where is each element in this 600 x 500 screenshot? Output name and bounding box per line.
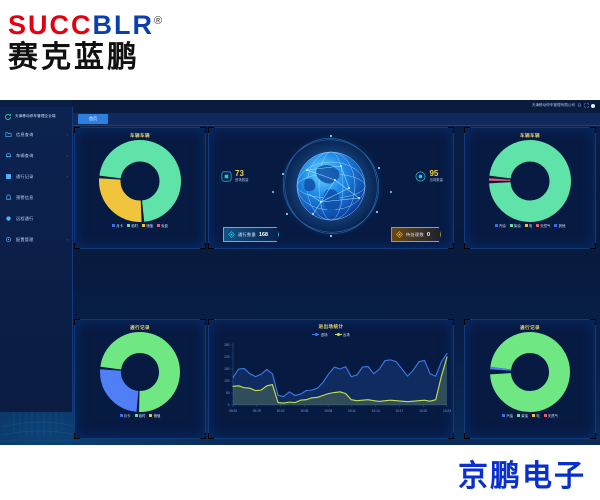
fullscreen-icon[interactable] xyxy=(584,103,589,108)
tab-home-label: 首页 xyxy=(89,116,97,122)
legend-swatch xyxy=(120,414,123,417)
footer-watermark-bar: 京鹏电子 xyxy=(0,445,600,500)
legend-item: 汽油 xyxy=(502,413,513,418)
legend-swatch xyxy=(536,224,539,227)
legend-label: 临时 xyxy=(139,413,146,418)
legend-item: 其他 xyxy=(554,223,565,228)
card-title: 车辆车辆 xyxy=(465,128,595,139)
svg-text:10:14: 10:14 xyxy=(372,409,380,413)
svg-text:10:17: 10:17 xyxy=(395,409,403,413)
sidebar-item-label: 预警信息 xyxy=(16,195,64,201)
svg-text:10:05: 10:05 xyxy=(300,409,308,413)
sidebar-item-xinxichaxun[interactable]: 信息查询 › xyxy=(0,124,72,145)
pill-traffic-count[interactable]: 通行数量 168 xyxy=(223,227,279,242)
svg-text:50: 50 xyxy=(226,391,230,395)
kpi-exit: 95 出场数量 xyxy=(415,170,443,183)
current-user-label: 天津移动停车管理有限公司 xyxy=(532,103,575,108)
card-center-globe: 73 进场数量 95 出场数量 通行数量 168 xyxy=(208,127,454,249)
legend-swatch xyxy=(502,414,505,417)
legend-label: 汽油 xyxy=(499,223,506,228)
sidebar-item-cheliangchaxun[interactable]: 车辆查询 › xyxy=(0,145,72,166)
svg-text:100: 100 xyxy=(224,379,230,383)
tab-home[interactable]: 首页 xyxy=(78,114,108,124)
legend-label: 汽油 xyxy=(506,413,513,418)
legend-label: 电 xyxy=(536,413,539,418)
application-screenshot: 天津移动停车管理有限公司 首页 天津移动停车管理企业端 信息查询 › 车辆查询 … xyxy=(0,100,600,445)
legend-item: 免费 xyxy=(157,223,168,228)
pill-pending-count[interactable]: 待处理数 0 xyxy=(391,227,441,242)
dot-icon xyxy=(5,215,12,222)
topbar-right-cluster[interactable]: 天津移动停车管理有限公司 xyxy=(532,103,595,108)
legend-item: 柴油 xyxy=(510,223,521,228)
legend-swatch xyxy=(510,224,513,227)
kpi-exit-value: 95 xyxy=(429,170,443,178)
legend-label: 储值 xyxy=(154,413,161,418)
logo-chinese: 赛克蓝鹏 xyxy=(8,41,164,75)
sidebar: 天津移动停车管理企业端 信息查询 › 车辆查询 › 通行记录 › 预警信息 远程… xyxy=(0,107,73,412)
card-title: 进出场统计 xyxy=(209,320,453,330)
legend-top-left: 月卡 临时 储值 免费 xyxy=(75,223,205,231)
chevron-right-icon: › xyxy=(67,237,68,242)
legend-label: 临时 xyxy=(131,223,138,228)
svg-text:09:26: 09:26 xyxy=(229,409,237,413)
legend-item: 汽油 xyxy=(495,223,506,228)
dashboard-grid: 车辆车辆 月卡 临时 储值 免费 xyxy=(74,127,596,439)
chevron-right-icon: › xyxy=(67,174,68,179)
sidebar-item-label: 车辆查询 xyxy=(16,153,63,159)
svg-text:10:08: 10:08 xyxy=(324,409,332,413)
svg-text:10:11: 10:11 xyxy=(348,409,356,413)
kpi-exit-label: 出场数量 xyxy=(429,178,443,183)
svg-text:10:20: 10:20 xyxy=(419,409,427,413)
legend-swatch xyxy=(532,414,535,417)
legend-label: 月卡 xyxy=(116,223,123,228)
legend-item: 柴油 xyxy=(517,413,528,418)
chevron-right-icon: › xyxy=(67,153,68,158)
bell-icon[interactable] xyxy=(577,103,582,108)
legend-swatch xyxy=(112,224,115,227)
donut-chart-top-left xyxy=(75,139,205,223)
legend-item: 电 xyxy=(532,413,540,418)
sidebar-item-label: 配置管理 xyxy=(16,237,63,243)
car-icon xyxy=(5,152,12,159)
legend-item: 天然气 xyxy=(544,413,558,418)
svg-text:150: 150 xyxy=(224,367,230,371)
legend-swatch xyxy=(517,414,520,417)
kpi-entry-value: 73 xyxy=(235,170,249,178)
logo-latin: SUCCBLR® xyxy=(8,6,164,40)
legend-label: 出场 xyxy=(343,332,350,337)
list-icon xyxy=(5,173,12,180)
card-title: 通行记录 xyxy=(75,320,205,331)
legend-line-marker xyxy=(335,334,342,335)
donut-svg xyxy=(489,140,571,222)
tab-bar: 首页 xyxy=(72,113,600,126)
sidebar-item-yujingxinxi[interactable]: 预警信息 xyxy=(0,187,72,208)
legend-label: 天然气 xyxy=(548,413,558,418)
line-chart-svg: 05010015020025009:2609:2910:0210:0510:08… xyxy=(209,337,453,425)
chevron-right-icon: › xyxy=(67,132,68,137)
avatar-icon[interactable] xyxy=(591,104,595,108)
bell-icon xyxy=(5,194,12,201)
legend-item: 电 xyxy=(525,223,533,228)
svg-text:250: 250 xyxy=(224,343,230,347)
pill-traffic-label: 通行数量 xyxy=(238,232,256,238)
legend-label: 天然气 xyxy=(540,223,550,228)
legend-item: 进场 xyxy=(312,332,327,337)
legend-swatch xyxy=(554,224,557,227)
donut-svg xyxy=(100,332,180,412)
gear-icon xyxy=(5,236,12,243)
refresh-icon xyxy=(4,113,12,121)
legend-item: 储值 xyxy=(142,223,153,228)
sidebar-item-label: 通行记录 xyxy=(16,174,63,180)
card-title: 通行记录 xyxy=(465,320,595,331)
legend-line-marker xyxy=(312,334,319,335)
donut-chart-top-right xyxy=(465,139,595,223)
kpi-entry-label: 进场数量 xyxy=(235,178,249,183)
logo-succ: SUCC xyxy=(8,10,93,40)
exit-icon xyxy=(415,171,426,182)
legend-label: 电 xyxy=(529,223,532,228)
legend-label: 月卡 xyxy=(124,413,131,418)
donut-chart-bottom-right xyxy=(465,331,595,413)
svg-text:0: 0 xyxy=(228,403,230,407)
card-bottom-right: 通行记录 汽油 柴油 电 天然气 xyxy=(464,319,596,439)
legend-item: 月卡 xyxy=(120,413,131,418)
legend-item: 出场 xyxy=(335,332,350,337)
donut-svg xyxy=(99,140,181,222)
legend-label: 储值 xyxy=(146,223,153,228)
legend-swatch xyxy=(544,414,547,417)
org-name-label: 天津移动停车管理企业端 xyxy=(15,114,56,119)
diamond-icon xyxy=(396,231,403,238)
pill-pending-value: 0 xyxy=(427,232,430,238)
legend-label: 进场 xyxy=(321,332,328,337)
svg-text:200: 200 xyxy=(224,355,230,359)
sidebar-item-peizhiguanli[interactable]: 配置管理 › xyxy=(0,229,72,250)
legend-label: 免费 xyxy=(161,223,168,228)
sidebar-item-yuanchengtongxing[interactable]: 远程通行 xyxy=(0,208,72,229)
brand-header: SUCCBLR® 赛克蓝鹏 xyxy=(0,0,600,100)
kpi-entry: 73 进场数量 xyxy=(221,170,249,183)
legend-item: 临时 xyxy=(127,223,138,228)
legend-swatch xyxy=(149,414,152,417)
card-top-left: 车辆车辆 月卡 临时 储值 免费 xyxy=(74,127,206,249)
legend-item: 月卡 xyxy=(112,223,123,228)
legend-label: 其他 xyxy=(559,223,566,228)
footer-watermark: 京鹏电子 xyxy=(458,451,586,495)
sidebar-item-tongxingjilu[interactable]: 通行记录 › xyxy=(0,166,72,187)
pill-traffic-value: 168 xyxy=(259,232,268,238)
org-header[interactable]: 天津移动停车管理企业端 xyxy=(0,107,72,124)
registered-mark-icon: ® xyxy=(154,15,164,27)
donut-svg xyxy=(490,332,570,412)
svg-text:09:29: 09:29 xyxy=(253,409,261,413)
diamond-icon xyxy=(228,231,235,238)
card-bottom-left: 通行记录 月卡 临时 储值 xyxy=(74,319,206,439)
card-top-right: 车辆车辆 汽油 柴油 电 天然气 其他 xyxy=(464,127,596,249)
legend-swatch xyxy=(142,224,145,227)
legend-bottom-right: 汽油 柴油 电 天然气 xyxy=(465,413,595,421)
svg-text:10:02: 10:02 xyxy=(277,409,285,413)
legend-swatch xyxy=(127,224,130,227)
legend-bottom-left: 月卡 临时 储值 xyxy=(75,413,205,421)
legend-label: 柴油 xyxy=(521,413,528,418)
pill-pending-label: 待处理数 xyxy=(406,232,424,238)
legend-label: 柴油 xyxy=(514,223,521,228)
legend-swatch xyxy=(135,414,138,417)
legend-top-right: 汽油 柴油 电 天然气 其他 xyxy=(465,223,595,231)
logo-blr: BLR xyxy=(93,10,155,40)
svg-text:10:23: 10:23 xyxy=(443,409,451,413)
legend-item: 临时 xyxy=(135,413,146,418)
legend-item: 储值 xyxy=(149,413,160,418)
company-logo: SUCCBLR® 赛克蓝鹏 xyxy=(8,6,164,75)
legend-item: 天然气 xyxy=(536,223,550,228)
enter-icon xyxy=(221,171,232,182)
app-topbar: 天津移动停车管理有限公司 xyxy=(72,100,600,114)
folder-icon xyxy=(5,131,12,138)
donut-chart-bottom-left xyxy=(75,331,205,413)
card-title: 车辆车辆 xyxy=(75,128,205,139)
sidebar-item-label: 远程通行 xyxy=(16,216,64,222)
legend-swatch xyxy=(525,224,528,227)
card-line-chart: 进出场统计 进场 出场 05010015020025009:2609:2910:… xyxy=(208,319,454,439)
legend-swatch xyxy=(495,224,498,227)
sidebar-item-label: 信息查询 xyxy=(16,132,63,138)
legend-swatch xyxy=(157,224,160,227)
